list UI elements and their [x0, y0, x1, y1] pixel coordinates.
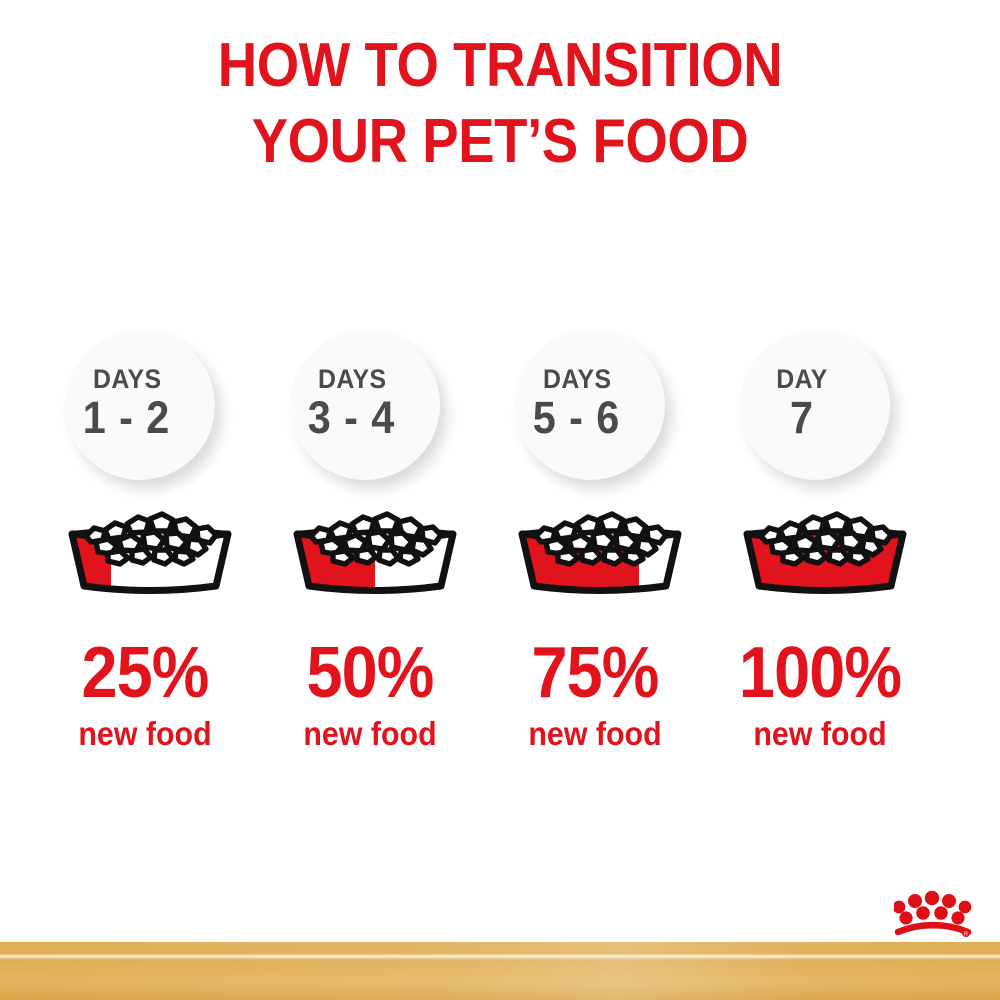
percent-value: 50% — [280, 635, 460, 711]
food-bowl-icon — [725, 498, 925, 598]
day-badge-label: DAYS — [318, 364, 387, 394]
transition-steps: DAYS 1 - 2 — [0, 330, 1000, 790]
food-bowl-icon — [275, 498, 475, 598]
transition-step: DAYS 5 - 6 — [495, 330, 720, 790]
percent-caption: new food — [728, 715, 912, 753]
food-bowl-icon — [50, 498, 250, 598]
percent-caption: new food — [503, 715, 687, 753]
transition-step: DAYS 1 - 2 — [45, 330, 270, 790]
day-badge: DAY 7 — [740, 330, 890, 480]
day-badge-number: 3 - 4 — [308, 394, 395, 442]
percent-block: 100% new food — [720, 635, 920, 753]
day-badge-circle: DAYS 3 - 4 — [290, 330, 440, 480]
svg-text:R: R — [964, 932, 968, 938]
transition-step: DAYS 3 - 4 — [270, 330, 495, 790]
day-badge-circle: DAY 7 — [740, 330, 890, 480]
gold-band-sheen — [0, 942, 1000, 1000]
percent-caption: new food — [53, 715, 237, 753]
royal-canin-crown-icon: R — [894, 880, 972, 940]
day-badge-label: DAYS — [93, 364, 162, 394]
percent-block: 75% new food — [495, 635, 695, 753]
day-badge-label: DAY — [776, 364, 828, 394]
registered-mark-icon: R — [962, 929, 970, 938]
day-badge: DAYS 3 - 4 — [290, 330, 440, 480]
footer-gold-band — [0, 942, 1000, 1000]
food-bowl-icon — [500, 498, 700, 598]
percent-value: 25% — [55, 635, 235, 711]
day-badge: DAYS 5 - 6 — [515, 330, 665, 480]
day-badge-number: 5 - 6 — [533, 394, 620, 442]
percent-value: 100% — [730, 635, 910, 711]
day-badge: DAYS 1 - 2 — [65, 330, 215, 480]
page-title-line-2: YOUR PET’S FOOD — [60, 104, 940, 180]
percent-value: 75% — [505, 635, 685, 711]
page-title: HOW TO TRANSITION YOUR PET’S FOOD — [60, 28, 940, 180]
percent-block: 25% new food — [45, 635, 245, 753]
day-badge-number: 7 — [790, 394, 814, 442]
infographic-page: HOW TO TRANSITION YOUR PET’S FOOD DAYS 1… — [0, 0, 1000, 1000]
percent-caption: new food — [278, 715, 462, 753]
percent-block: 50% new food — [270, 635, 470, 753]
day-badge-label: DAYS — [543, 364, 612, 394]
day-badge-circle: DAYS 1 - 2 — [65, 330, 215, 480]
transition-step: DAY 7 — [720, 330, 945, 790]
page-title-line-1: HOW TO TRANSITION — [60, 28, 940, 104]
day-badge-number: 1 - 2 — [83, 394, 170, 442]
day-badge-circle: DAYS 5 - 6 — [515, 330, 665, 480]
